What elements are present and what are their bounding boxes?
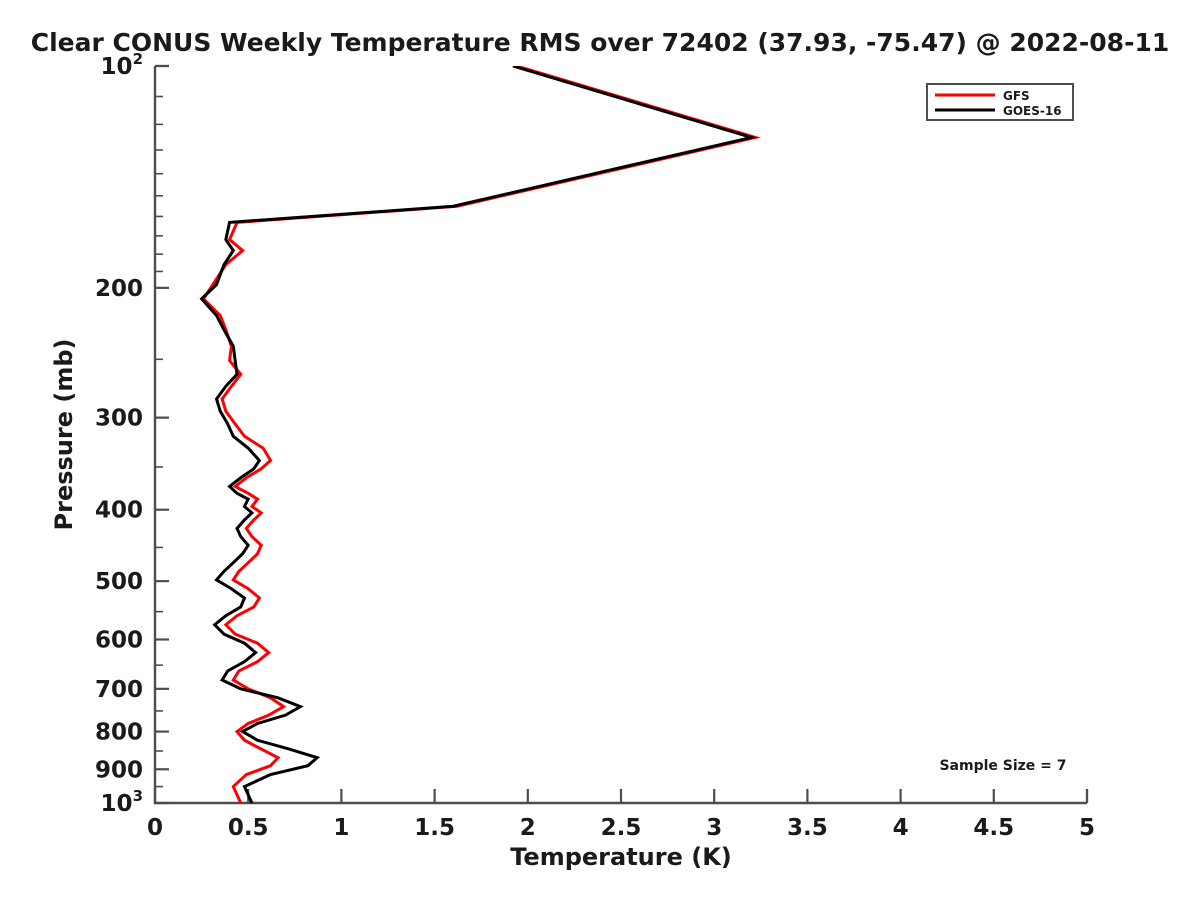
- y-tick-label: 200: [95, 276, 143, 302]
- x-tick-label: 1: [333, 815, 349, 841]
- y-tick-label: 300: [95, 406, 143, 432]
- x-tick-label: 1.5: [414, 815, 455, 841]
- x-tick-label: 3: [706, 815, 722, 841]
- y-tick-label-base: 10: [101, 54, 133, 80]
- legend-box[interactable]: GFSGOES-16: [927, 84, 1073, 120]
- series-group: [202, 66, 756, 803]
- axis-frame: [155, 66, 1087, 803]
- x-tick-label: 2: [520, 815, 536, 841]
- y-tick-label: 900: [95, 757, 143, 783]
- axis-group: 10220030040050060070080090010300.511.522…: [50, 50, 1095, 871]
- series-line-goes-16: [202, 66, 752, 803]
- series-line-gfs: [203, 66, 755, 803]
- legend-label-gfs: GFS: [1003, 89, 1030, 103]
- y-tick-label-base: 300: [95, 406, 143, 432]
- y-tick-label-base: 700: [95, 677, 143, 703]
- y-tick-label-base: 500: [95, 569, 143, 595]
- y-tick-label: 102: [101, 50, 143, 80]
- y-tick-label-exponent: 2: [133, 50, 143, 68]
- y-tick-label-base: 900: [95, 757, 143, 783]
- y-tick-label: 700: [95, 677, 143, 703]
- y-tick-label: 400: [95, 498, 143, 524]
- y-tick-label-base: 600: [95, 627, 143, 653]
- legend-label-goes-16: GOES-16: [1003, 104, 1062, 118]
- x-tick-label: 3.5: [787, 815, 828, 841]
- x-tick-label: 2.5: [601, 815, 642, 841]
- figure-canvas: Clear CONUS Weekly Temperature RMS over …: [0, 0, 1200, 900]
- y-tick-label: 800: [95, 720, 143, 746]
- x-tick-label: 0: [147, 815, 163, 841]
- y-tick-label: 500: [95, 569, 143, 595]
- sample-size-label: Sample Size = 7: [939, 758, 1066, 774]
- y-tick-label-base: 200: [95, 276, 143, 302]
- x-tick-label: 4: [893, 815, 909, 841]
- y-tick-label: 600: [95, 627, 143, 653]
- temperature-rms-profile-chart: 10220030040050060070080090010300.511.522…: [0, 0, 1200, 900]
- y-tick-label: 103: [101, 787, 143, 817]
- x-tick-label: 4.5: [973, 815, 1014, 841]
- x-axis-title: Temperature (K): [510, 843, 732, 871]
- y-tick-label-base: 400: [95, 498, 143, 524]
- annotation-group: Sample Size = 7: [939, 758, 1066, 774]
- x-tick-label: 5: [1079, 815, 1095, 841]
- y-axis-title: Pressure (mb): [50, 339, 78, 531]
- y-tick-label-base: 800: [95, 720, 143, 746]
- y-tick-label-exponent: 3: [133, 787, 143, 805]
- x-tick-label: 0.5: [228, 815, 269, 841]
- y-tick-label-base: 10: [101, 791, 133, 817]
